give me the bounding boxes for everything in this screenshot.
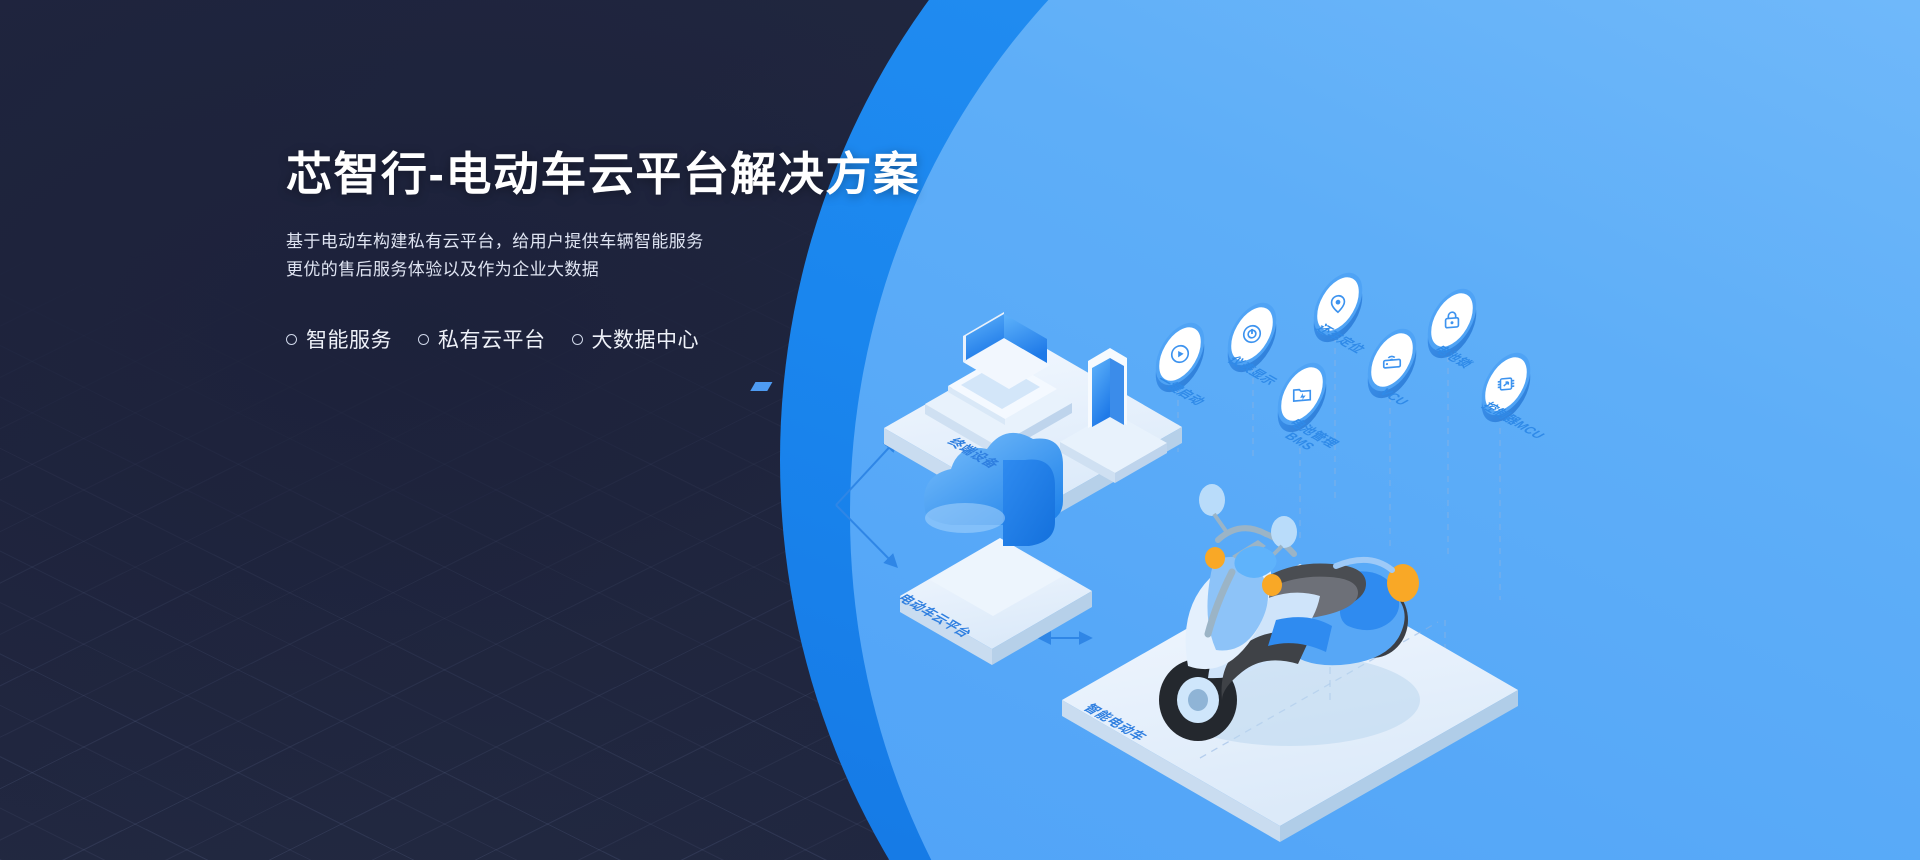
flow-arrows bbox=[836, 440, 896, 566]
power-play-icon bbox=[1169, 342, 1191, 366]
isometric-illustration bbox=[0, 0, 1920, 860]
padlock-icon bbox=[1441, 308, 1463, 332]
wireless-box-icon bbox=[1381, 348, 1403, 372]
smart-ev-group bbox=[1062, 484, 1518, 842]
location-pin-icon bbox=[1327, 292, 1349, 316]
hero-banner: 芯智行-电动车云平台解决方案 基于电动车构建私有云平台，给用户提供车辆智能服务 … bbox=[0, 0, 1920, 860]
battery-folder-icon bbox=[1291, 382, 1313, 406]
chip-icon bbox=[1495, 372, 1517, 396]
gauge-icon bbox=[1241, 322, 1263, 346]
